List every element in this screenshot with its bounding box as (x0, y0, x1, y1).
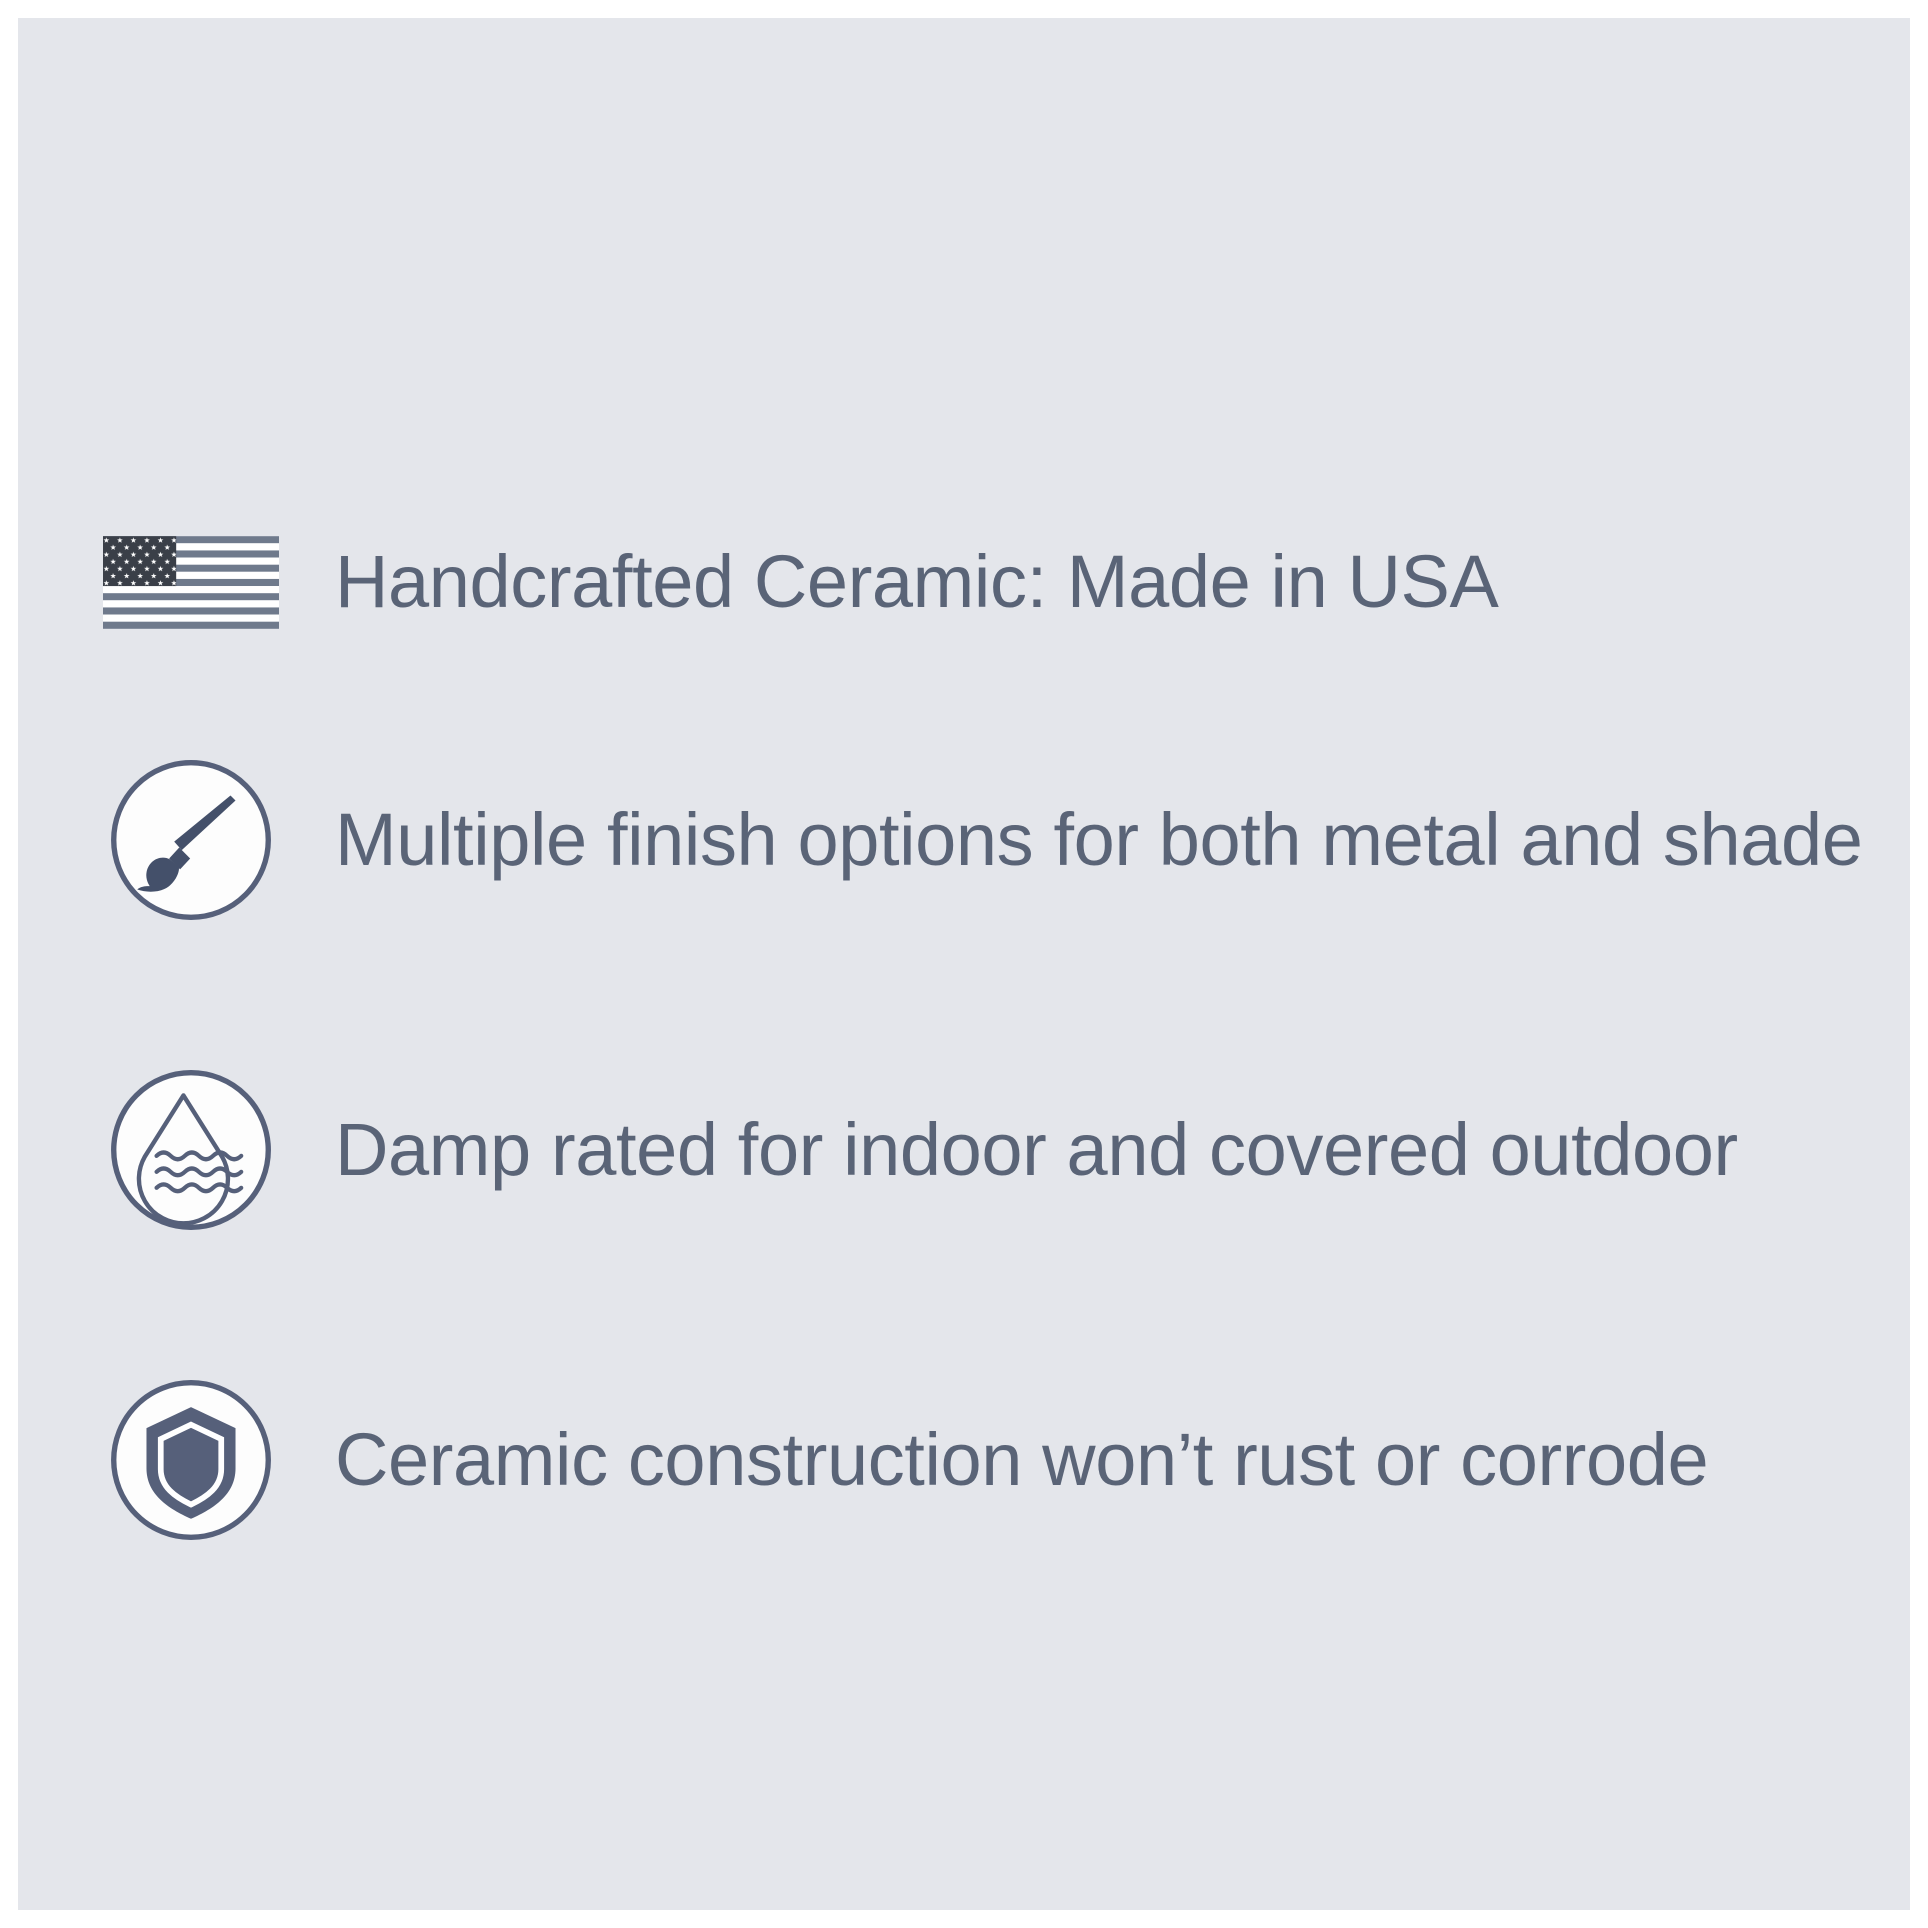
feature-label: Multiple finish options for both metal a… (335, 803, 1863, 877)
feature-label: Damp rated for indoor and covered outdoo… (335, 1113, 1738, 1187)
feature-icon-slot (103, 1060, 279, 1240)
water-droplet-icon (107, 1066, 275, 1234)
list-item: Damp rated for indoor and covered outdoo… (103, 1060, 1893, 1240)
feature-icon-slot (103, 1370, 279, 1550)
shield-icon (107, 1376, 275, 1544)
paintbrush-icon (107, 756, 275, 924)
feature-highlights-card: Handcrafted Ceramic: Made in USA Multipl… (18, 18, 1910, 1910)
list-item: Multiple finish options for both metal a… (103, 750, 1893, 930)
list-item: Ceramic construction won’t rust or corro… (103, 1370, 1893, 1550)
usa-flag-icon (103, 536, 279, 629)
feature-icon-slot (103, 750, 279, 930)
feature-list: Handcrafted Ceramic: Made in USA Multipl… (18, 18, 1910, 1910)
list-item: Handcrafted Ceramic: Made in USA (103, 492, 1893, 672)
feature-label: Handcrafted Ceramic: Made in USA (335, 545, 1498, 619)
feature-icon-slot (103, 492, 279, 672)
feature-label: Ceramic construction won’t rust or corro… (335, 1423, 1708, 1497)
